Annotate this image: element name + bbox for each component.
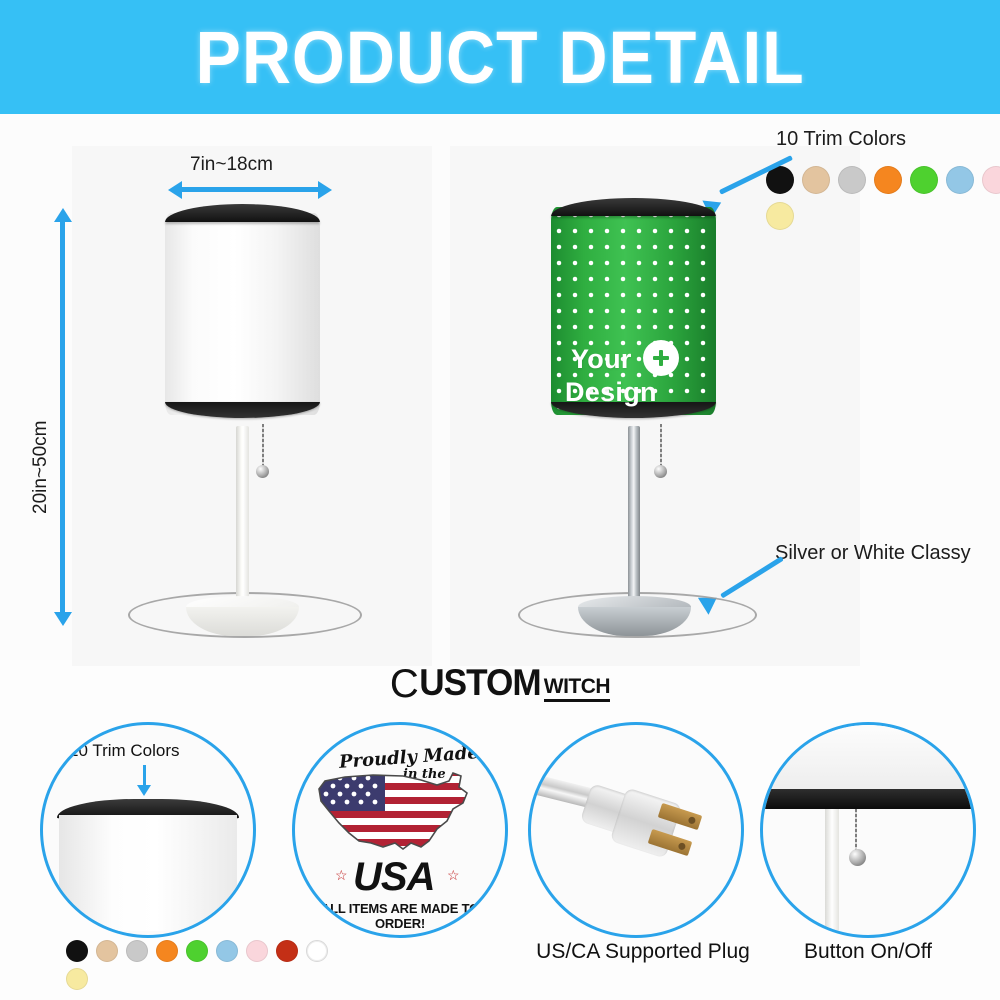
swatch-green[interactable] xyxy=(910,166,938,194)
feature-plug: US/CA Supported Plug xyxy=(518,722,768,972)
brand-logo: CUSTOMWITCH xyxy=(0,662,1000,707)
feature-made-in-usa: Proudly Made in the xyxy=(292,722,508,972)
base-finish-label: Silver or White Classy xyxy=(775,542,971,565)
base-side xyxy=(186,607,299,636)
feature-button-caption: Button On/Off xyxy=(760,940,976,964)
swatch-light-blue[interactable] xyxy=(946,166,974,194)
height-arrow-down xyxy=(54,612,72,626)
feature-circle-ring xyxy=(760,722,976,938)
lamp-base-white xyxy=(186,596,299,640)
swatch-gray[interactable] xyxy=(838,166,866,194)
usa-star-left: ☆ xyxy=(335,867,348,884)
product-showcase: 7in~18cm 20in~50cm xyxy=(0,114,1000,660)
width-arrow-right xyxy=(318,181,332,199)
swatch-black[interactable] xyxy=(66,940,88,962)
base-side xyxy=(578,607,691,636)
shade-trim-top xyxy=(165,204,320,222)
usa-word: USA xyxy=(353,855,434,900)
usa-star-right: ☆ xyxy=(447,867,460,884)
feature-trim-arrow-shaft xyxy=(143,765,146,787)
swatch-orange[interactable] xyxy=(156,940,178,962)
trim-callout-arrow xyxy=(706,166,796,216)
feature-trim-arrow-head xyxy=(137,785,151,796)
feature-swatch-row-2 xyxy=(66,968,88,990)
feature-button-onoff: Button On/Off xyxy=(760,722,976,972)
pull-chain-ball-closeup[interactable] xyxy=(849,849,866,866)
logo-c-glyph: C xyxy=(390,662,416,706)
lamp-stem-silver xyxy=(628,426,640,614)
page-title: PRODUCT DETAIL xyxy=(195,15,804,100)
lamp-stem-white xyxy=(236,426,249,614)
height-dimension-line xyxy=(60,220,65,614)
lamp-stem-closeup xyxy=(825,809,839,935)
pull-chain[interactable] xyxy=(660,424,662,468)
shade-body xyxy=(165,213,320,415)
plus-icon xyxy=(643,340,679,376)
trim-colors-title: 10 Trim Colors xyxy=(776,128,906,151)
lamp-shade-green: Your Design xyxy=(551,198,716,434)
feature-circle-ring: 10 Trim Colors xyxy=(40,722,256,938)
usa-map-flag-icon xyxy=(311,763,491,859)
design-text-line2: Design xyxy=(565,379,657,406)
swatch-light-blue[interactable] xyxy=(216,940,238,962)
lamp-base-silver xyxy=(578,596,691,640)
swatch-tan[interactable] xyxy=(802,166,830,194)
feature-circle-ring xyxy=(528,722,744,938)
design-text-line1: Your xyxy=(571,346,632,373)
swatch-pink[interactable] xyxy=(982,166,1000,194)
usa-subtitle: ALL ITEMS ARE MADE TO ORDER! xyxy=(295,901,505,931)
usa-badge: Proudly Made in the xyxy=(295,725,505,935)
shade-trim-bottom xyxy=(165,402,320,418)
logo-sub-text: WITCH xyxy=(544,676,610,702)
swatch-tan[interactable] xyxy=(96,940,118,962)
feature-circle-ring: Proudly Made in the xyxy=(292,722,508,938)
pull-chain[interactable] xyxy=(262,424,264,468)
feature-plug-caption: US/CA Supported Plug xyxy=(518,940,768,964)
pull-chain-closeup[interactable] xyxy=(855,809,857,853)
pull-chain-ball[interactable] xyxy=(654,465,667,478)
logo-main-text: USTOM xyxy=(419,662,541,704)
pull-chain-ball[interactable] xyxy=(256,465,269,478)
swatch-pink[interactable] xyxy=(246,940,268,962)
shade-trim-top xyxy=(551,198,716,216)
feature-trim-label: 10 Trim Colors xyxy=(69,741,180,761)
width-dimension-label: 7in~18cm xyxy=(190,154,273,176)
feature-swatch-row-1 xyxy=(66,940,328,962)
us-plug-image xyxy=(531,725,741,935)
height-dimension-label: 20in~50cm xyxy=(30,421,52,514)
feature-trim-colors: 10 Trim Colors xyxy=(40,722,256,982)
lamp-shade-white xyxy=(165,204,320,434)
header-banner: PRODUCT DETAIL xyxy=(0,0,1000,114)
swatch-yellow[interactable] xyxy=(66,968,88,990)
swatch-orange[interactable] xyxy=(874,166,902,194)
trim-swatch-row-1 xyxy=(766,166,1000,194)
shade-trim-closeup xyxy=(763,789,973,809)
shade-bottom-closeup xyxy=(763,725,973,795)
swatch-gray[interactable] xyxy=(126,940,148,962)
product-detail-page: PRODUCT DETAIL 7in~18cm 20in~50cm xyxy=(0,0,1000,1000)
width-dimension-line xyxy=(180,187,320,192)
swatch-green[interactable] xyxy=(186,940,208,962)
sample-shade-body xyxy=(59,815,237,931)
